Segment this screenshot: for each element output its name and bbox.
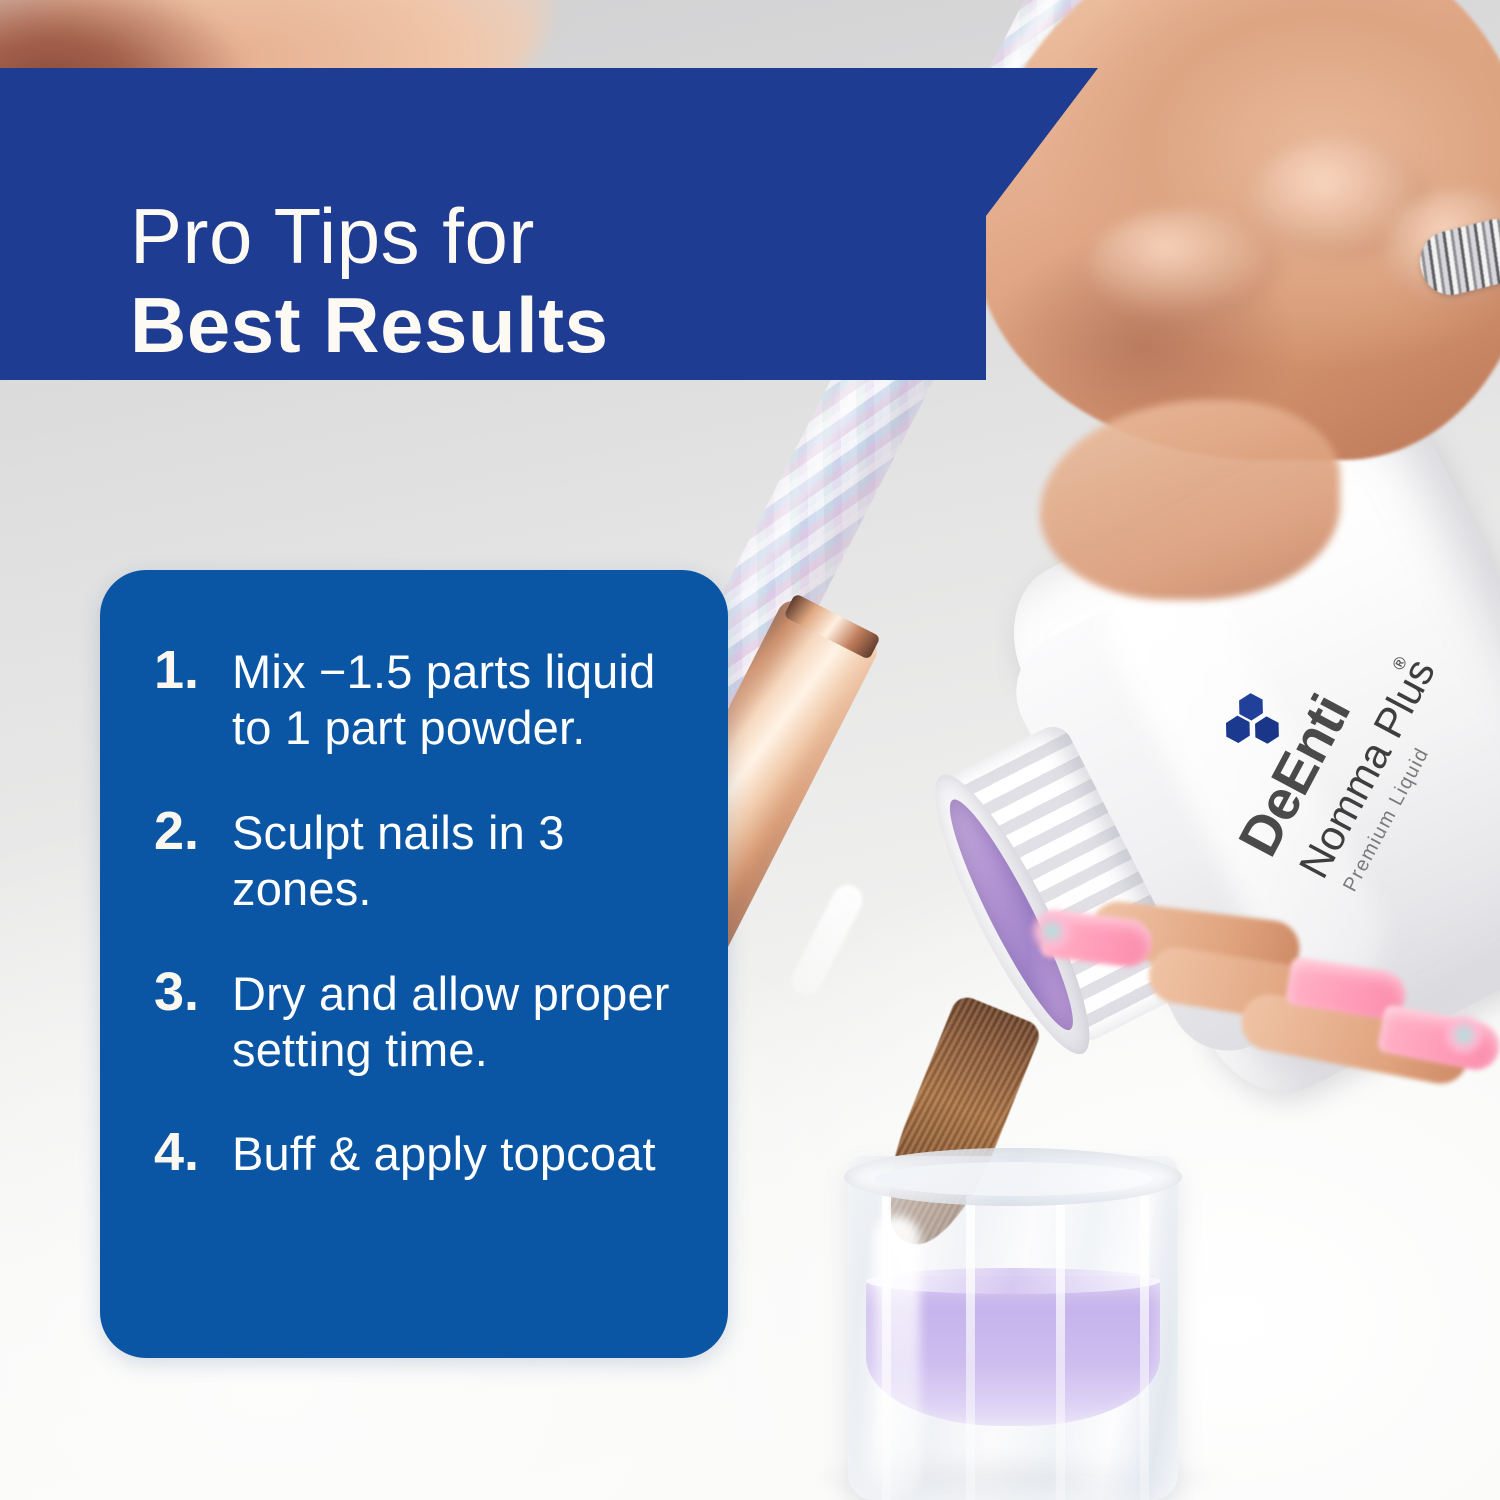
step-number: 4. — [154, 1124, 232, 1181]
step-number: 1. — [154, 642, 232, 699]
nail-glitter-accent — [1030, 909, 1074, 953]
step-number: 2. — [154, 803, 232, 860]
glass-dappen-dish — [848, 1128, 1178, 1500]
title-line-2: Best Results — [130, 281, 890, 370]
hand-with-pink-nails — [1090, 895, 1500, 1125]
steps-card: 1.Mix −1.5 parts liquid to 1 part powder… — [100, 570, 728, 1358]
step-item: 2.Sculpt nails in 3 zones. — [154, 803, 694, 918]
knuckle-highlight — [1090, 210, 1280, 320]
dish-rim-inner — [874, 1162, 1152, 1196]
step-item: 1.Mix −1.5 parts liquid to 1 part powder… — [154, 642, 694, 757]
step-text: Sculpt nails in 3 zones. — [232, 803, 694, 918]
step-text: Buff & apply topcoat — [232, 1124, 694, 1182]
infographic-canvas: DeEnti Nomma Plus ® Premium Liquid — [0, 0, 1500, 1500]
header-banner: Pro Tips for Best Results — [0, 68, 986, 380]
title-line-1: Pro Tips for — [130, 192, 535, 280]
step-item: 4.Buff & apply topcoat — [154, 1124, 694, 1182]
step-text: Mix −1.5 parts liquid to 1 part powder. — [232, 642, 694, 757]
steps-list: 1.Mix −1.5 parts liquid to 1 part powder… — [100, 570, 728, 1358]
dish-body — [848, 1156, 1178, 1500]
header-banner-corner — [986, 68, 1098, 216]
nail-glitter-accent — [1442, 1013, 1486, 1057]
step-number: 3. — [154, 964, 232, 1021]
step-text: Dry and allow proper setting time. — [232, 964, 694, 1079]
step-item: 3.Dry and allow proper setting time. — [154, 964, 694, 1079]
page-title: Pro Tips for Best Results — [130, 192, 890, 370]
dish-glass-highlight — [874, 1216, 920, 1496]
